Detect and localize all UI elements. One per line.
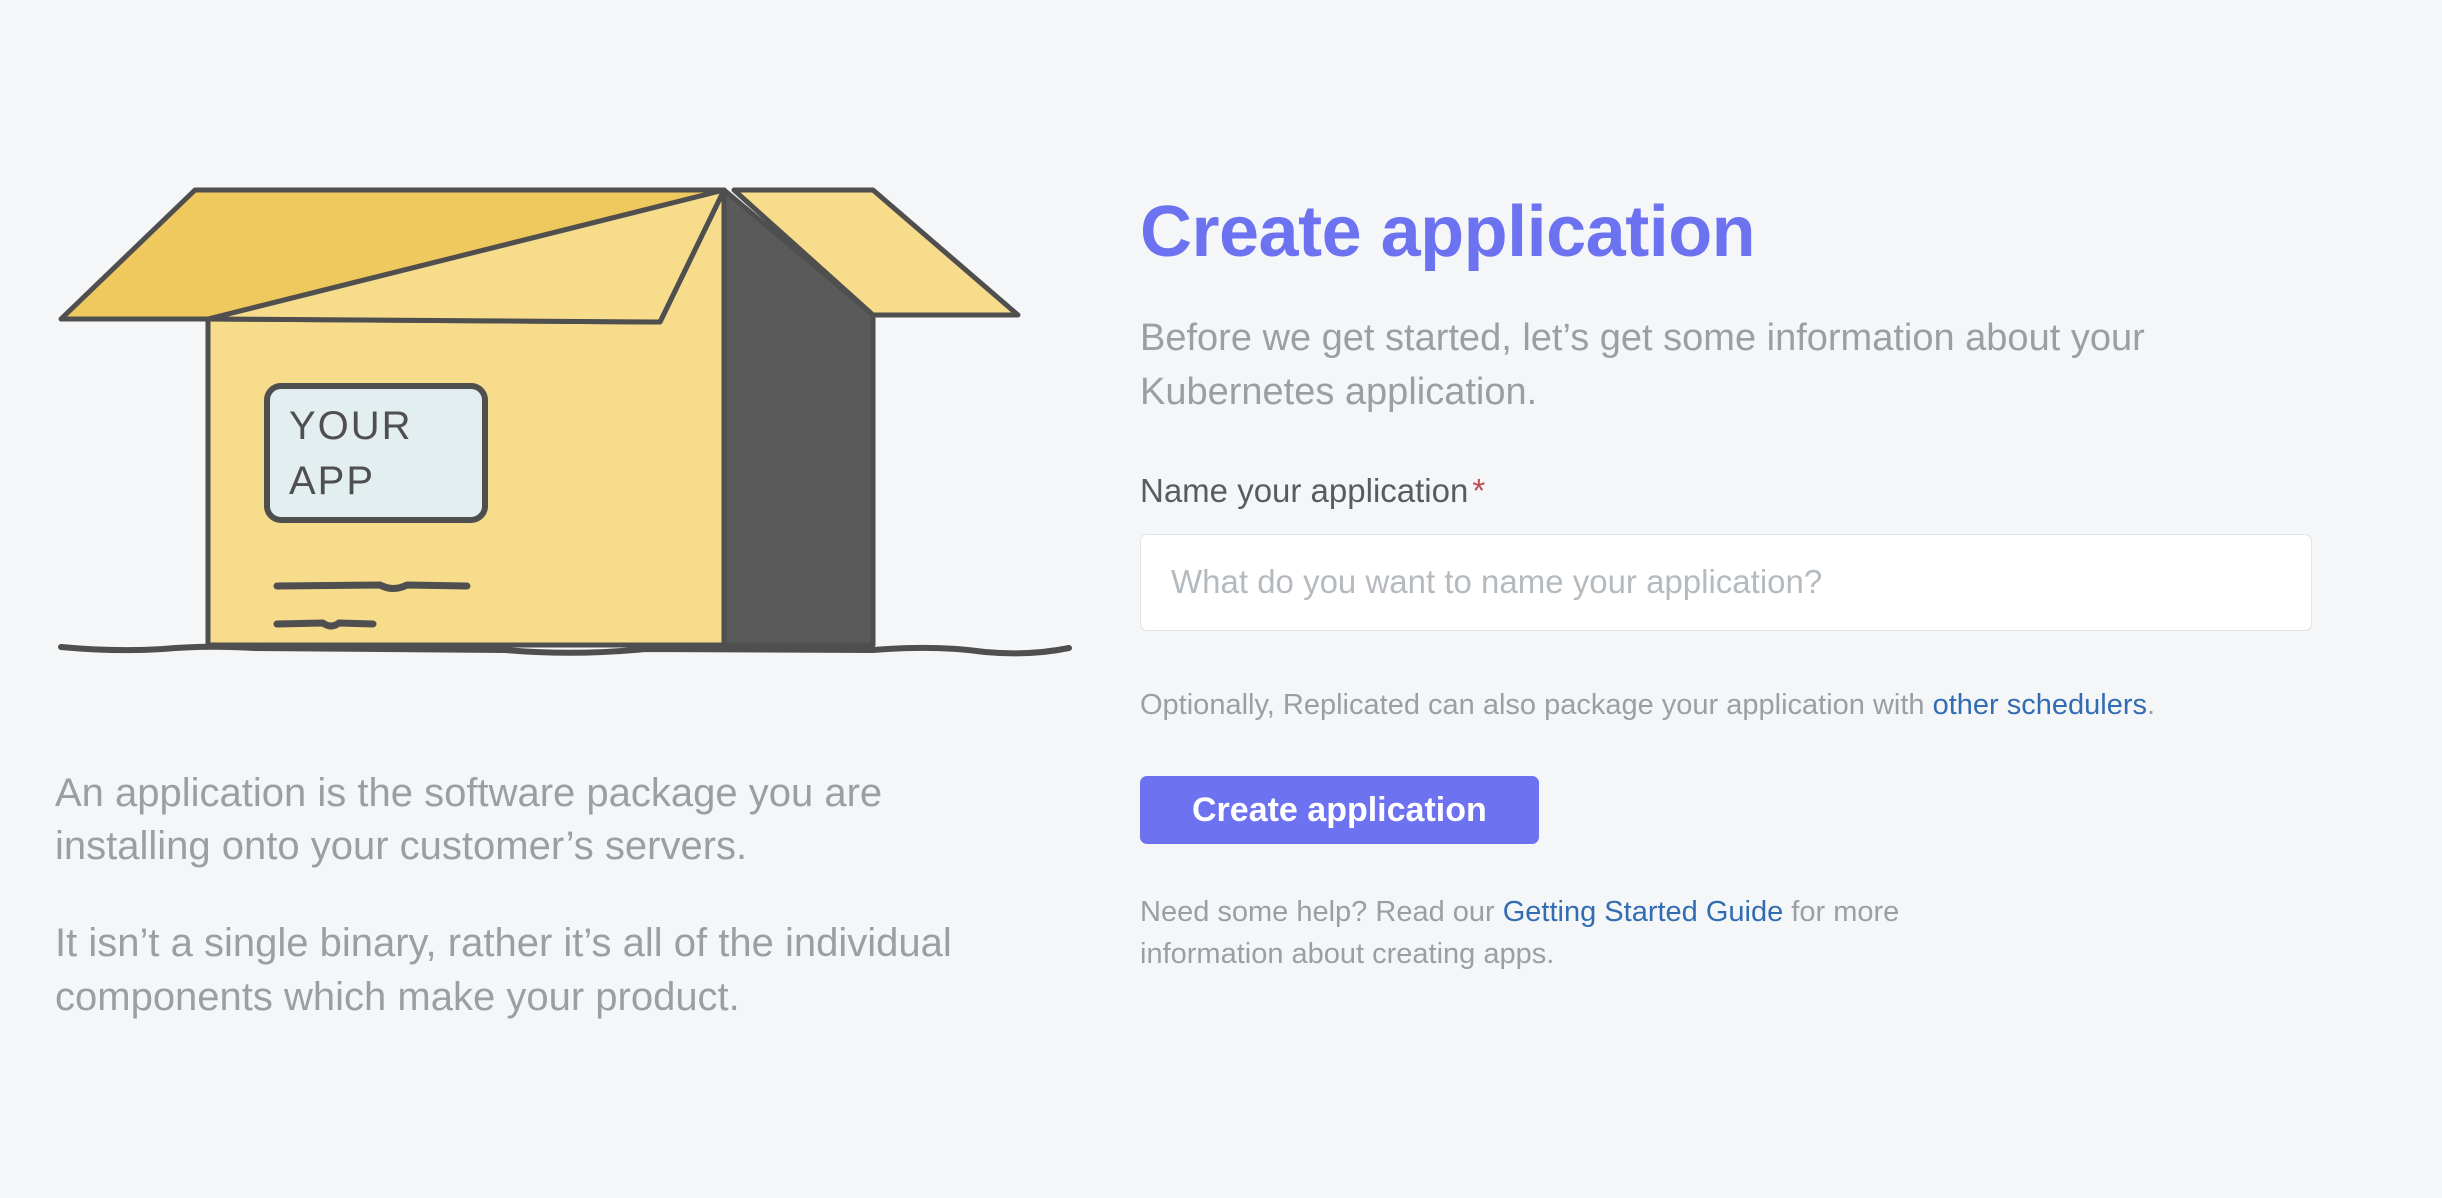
optional-note-prefix: Optionally, Replicated can also package … (1140, 689, 1933, 721)
box-scribble-line-2 (277, 623, 373, 626)
application-name-input[interactable] (1140, 534, 2312, 631)
help-text: Need some help? Read our Getting Started… (1140, 892, 2040, 976)
create-application-page: YOUR APP An application is the software … (0, 0, 2442, 1198)
left-description: An application is the software package y… (55, 767, 995, 1024)
optional-schedulers-note: Optionally, Replicated can also package … (1140, 684, 2397, 726)
page-title: Create application (1140, 196, 2397, 268)
box-illustration-svg: YOUR APP (55, 182, 1075, 727)
sticker-text-line-1: YOUR (289, 404, 413, 448)
description-paragraph-2: It isn’t a single binary, rather it’s al… (55, 917, 995, 1023)
getting-started-guide-link[interactable]: Getting Started Guide (1503, 896, 1784, 928)
application-name-label: Name your application* (1140, 472, 2397, 510)
other-schedulers-link[interactable]: other schedulers (1933, 689, 2147, 721)
sticker-text-line-2: APP (289, 459, 375, 503)
create-application-form-panel: Create application Before we get started… (1140, 0, 2442, 1004)
description-paragraph-1: An application is the software package y… (55, 767, 995, 873)
application-name-label-text: Name your application (1140, 472, 1468, 509)
left-info-panel: YOUR APP An application is the software … (0, 0, 1140, 1024)
cardboard-box-illustration: YOUR APP (55, 182, 1075, 727)
create-application-button[interactable]: Create application (1140, 776, 1539, 844)
page-subtitle: Before we get started, let’s get some in… (1140, 312, 2320, 420)
required-asterisk-icon: * (1472, 472, 1485, 509)
ground-line (61, 647, 1069, 654)
help-prefix: Need some help? Read our (1140, 896, 1503, 928)
optional-note-suffix: . (2147, 689, 2155, 721)
box-scribble-line-1 (277, 585, 467, 589)
